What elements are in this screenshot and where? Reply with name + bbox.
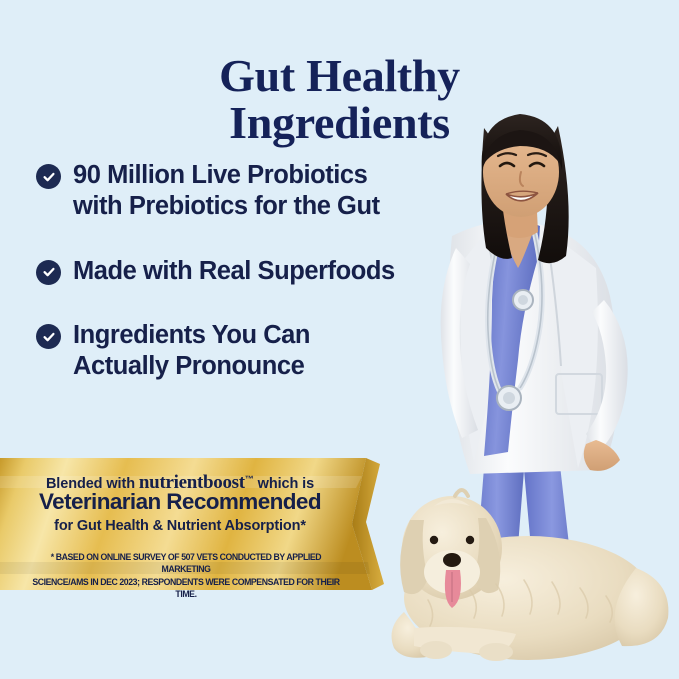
benefits-list: 90 Million Live Probiotics with Prebioti…	[36, 160, 456, 416]
check-circle-icon	[36, 260, 61, 285]
fine-print-line-1: * BASED ON ONLINE SURVEY OF 507 VETS CON…	[30, 551, 342, 576]
list-item-label: Made with Real Superfoods	[73, 256, 395, 287]
banner-text: Blended with nutrientboost™ which is Vet…	[0, 458, 360, 598]
list-item-line-2: Actually Pronounce	[73, 352, 304, 380]
check-circle-icon	[36, 324, 61, 349]
trademark-symbol: ™	[245, 474, 254, 484]
check-circle-icon	[36, 164, 61, 189]
list-item-line-1: Made with Real Superfoods	[73, 257, 395, 285]
fine-print-line-2: SCIENCE/AMS IN DEC 2023; RESPONDENTS WER…	[30, 576, 342, 601]
list-item-line-2: with Prebiotics for the Gut	[73, 192, 380, 220]
list-item: 90 Million Live Probiotics with Prebioti…	[36, 160, 456, 223]
list-item-line-1: Ingredients You Can	[73, 321, 310, 349]
banner-fine-print: * BASED ON ONLINE SURVEY OF 507 VETS CON…	[30, 551, 342, 601]
title-line-1: Gut Healthy	[219, 50, 460, 101]
list-item-label: 90 Million Live Probiotics with Prebioti…	[73, 160, 380, 223]
advertisement-image: Gut Healthy Ingredients 90 Million Live …	[0, 0, 679, 679]
list-item: Ingredients You Can Actually Pronounce	[36, 320, 456, 383]
list-item: Made with Real Superfoods	[36, 256, 456, 287]
list-item-label: Ingredients You Can Actually Pronounce	[73, 320, 310, 383]
title-line-2: Ingredients	[0, 100, 679, 147]
banner-headline: Veterinarian Recommended	[0, 489, 360, 515]
list-item-line-1: 90 Million Live Probiotics	[73, 161, 367, 189]
veterinarian-recommended-banner: Blended with nutrientboost™ which is Vet…	[0, 458, 395, 598]
page-title: Gut Healthy Ingredients	[0, 53, 679, 147]
banner-subline: for Gut Health & Nutrient Absorption*	[0, 518, 360, 534]
